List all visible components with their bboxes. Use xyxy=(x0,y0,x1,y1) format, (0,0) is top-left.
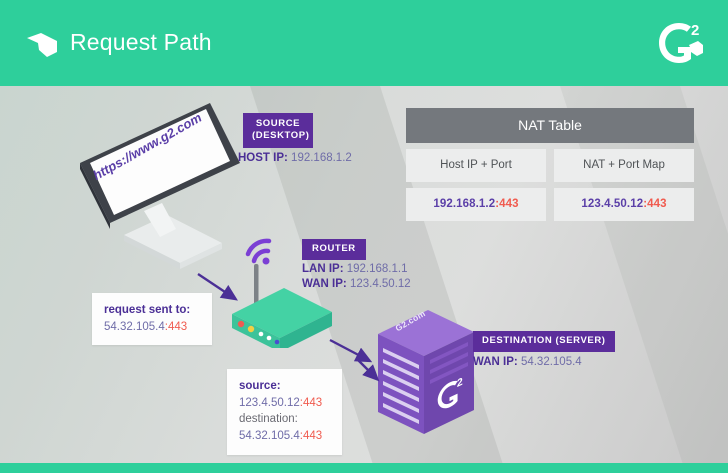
destination-wan-label: WAN IP: xyxy=(473,356,518,368)
request-callout-ip: 54.32.105.4 xyxy=(104,321,165,333)
srcdest-source-label: source: xyxy=(239,378,330,395)
nat-table-title: NAT Table xyxy=(406,108,694,143)
destination-wan-row: WAN IP: 54.32.105.4 xyxy=(473,356,582,368)
router-lan-value: 192.168.1.1 xyxy=(347,263,408,275)
nat-mapped-port: :443 xyxy=(643,198,666,210)
g2-logo-icon: 2 xyxy=(653,17,705,69)
nat-host-port: :443 xyxy=(495,198,518,210)
nat-table: NAT Table Host IP + Port NAT + Port Map … xyxy=(406,108,694,221)
srcdest-source-ip: 123.4.50.12 xyxy=(239,397,300,409)
host-ip-row: HOST IP: 192.168.1.2 xyxy=(238,152,352,164)
router-badge: ROUTER xyxy=(302,239,366,260)
nat-table-header-row: Host IP + Port NAT + Port Map xyxy=(406,149,694,182)
srcdest-destination-port: :443 xyxy=(300,430,322,442)
source-badge-line2: (DESKTOP) xyxy=(252,130,309,141)
page-title: Request Path xyxy=(70,29,212,56)
nat-mapped-ip: 123.4.50.12 xyxy=(581,198,643,210)
header-bar: Request Path 2 xyxy=(0,0,728,86)
nat-host-ip: 192.168.1.2 xyxy=(433,198,495,210)
source-destination-callout: source: 123.4.50.12:443 destination: 54.… xyxy=(227,369,342,455)
srcdest-source-address: 123.4.50.12:443 xyxy=(239,395,330,412)
request-callout: request sent to: 54.32.105.4:443 xyxy=(92,293,212,345)
router-wan-label: WAN IP: xyxy=(302,278,347,290)
router-wan-value: 123.4.50.12 xyxy=(350,278,411,290)
router-wan-row: WAN IP: 123.4.50.12 xyxy=(302,278,411,290)
request-callout-address: 54.32.105.4:443 xyxy=(104,319,200,336)
source-badge: SOURCE (DESKTOP) xyxy=(243,113,313,148)
host-ip-value: 192.168.1.2 xyxy=(291,152,352,164)
infographic-canvas: Request Path 2 https://www.g2.com xyxy=(0,0,728,473)
destination-wan-value: 54.32.105.4 xyxy=(521,356,582,368)
source-badge-line1: SOURCE xyxy=(256,118,300,129)
nat-table-row: 192.168.1.2:443 123.4.50.12:443 xyxy=(406,188,694,221)
nat-column-header-nat: NAT + Port Map xyxy=(554,149,694,182)
srcdest-destination-label: destination: xyxy=(239,411,330,428)
destination-server: 2 G2.com xyxy=(372,308,480,438)
request-callout-port: :443 xyxy=(165,321,187,333)
srcdest-source-port: :443 xyxy=(300,397,322,409)
nat-column-header-host: Host IP + Port xyxy=(406,149,546,182)
router-lan-row: LAN IP: 192.168.1.1 xyxy=(302,263,408,275)
destination-badge: DESTINATION (SERVER) xyxy=(473,331,615,352)
host-ip-label: HOST IP: xyxy=(238,152,288,164)
srcdest-destination-address: 54.32.105.4:443 xyxy=(239,428,330,445)
srcdest-destination-ip: 54.32.105.4 xyxy=(239,430,300,442)
svg-text:2: 2 xyxy=(691,22,699,39)
router-lan-label: LAN IP: xyxy=(302,263,344,275)
request-callout-label: request sent to: xyxy=(104,302,200,319)
footer-bar xyxy=(0,463,728,473)
g2-pentagon-mark-icon xyxy=(25,32,59,58)
nat-cell-host-mapping: 192.168.1.2:443 xyxy=(406,188,546,221)
nat-cell-nat-mapping: 123.4.50.12:443 xyxy=(554,188,694,221)
